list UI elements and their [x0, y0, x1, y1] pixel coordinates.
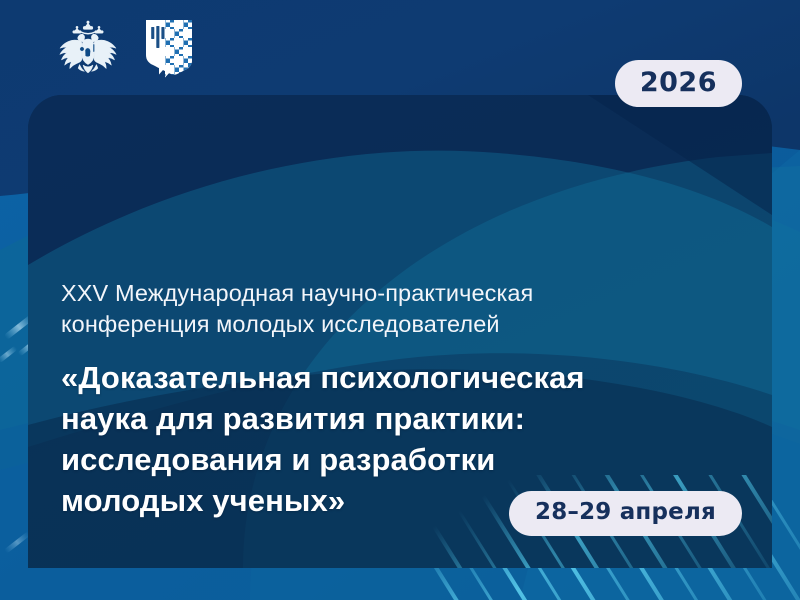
title-line-2: наука для развития практики: — [61, 401, 525, 436]
year-badge: 2026 — [615, 60, 742, 107]
title-line-4: молодых ученых» — [61, 483, 345, 518]
double-headed-eagle-icon — [57, 19, 119, 79]
date-badge: 28–29 апреля — [509, 491, 742, 536]
poster-text-block: XXV Международная научно-практическая ко… — [61, 278, 721, 521]
conference-subtitle: XXV Международная научно-практическая ко… — [61, 278, 661, 341]
shield-psi-icon — [143, 18, 195, 80]
conference-poster: 2026 XXV Международная научно-практическ… — [0, 0, 800, 600]
emblem-group — [57, 18, 195, 80]
subtitle-line-1: XXV Международная научно-практическая — [61, 280, 533, 306]
title-line-1: «Доказательная психологическая — [61, 360, 585, 395]
title-line-3: исследования и разработки — [61, 442, 495, 477]
subtitle-line-2: конференция молодых исследователей — [61, 311, 500, 337]
